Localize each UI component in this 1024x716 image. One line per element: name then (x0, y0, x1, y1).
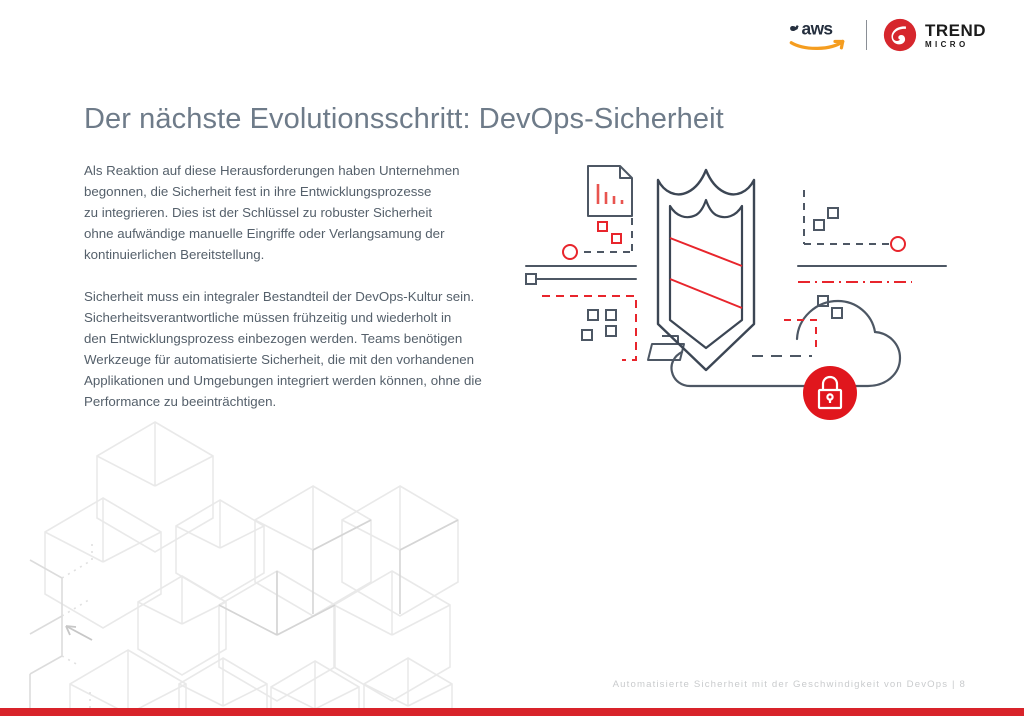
folder-icon (648, 336, 684, 360)
red-circle-node (563, 245, 577, 259)
lock-badge-icon (803, 366, 857, 420)
logo-divider (866, 20, 867, 50)
bottom-accent-bar (0, 708, 1024, 716)
paragraph-1: Als Reaktion auf diese Herausforderungen… (84, 160, 514, 265)
svg-text:aws: aws (802, 18, 833, 38)
body-copy: Als Reaktion auf diese Herausforderungen… (84, 160, 514, 412)
trend-micro-mark-icon (883, 18, 917, 52)
brand-logo-bar: aws TREND MICRO (784, 14, 986, 56)
document-chart-icon (588, 166, 632, 216)
footer-note: Automatisierte Sicherheit mit der Geschw… (613, 679, 966, 690)
trend-micro-line2: MICRO (925, 41, 986, 49)
isometric-cube-pattern-watermark (0, 418, 500, 708)
trend-micro-line1: TREND (925, 22, 986, 39)
trend-micro-wordmark: TREND MICRO (925, 22, 986, 49)
aws-logo: aws (784, 17, 850, 53)
trend-micro-logo: TREND MICRO (883, 18, 986, 52)
paragraph-2: Sicherheit muss ein integraler Bestandte… (84, 286, 514, 412)
slide-root: aws TREND MICRO Der nächste Evolutionssc… (0, 0, 1024, 716)
page-title: Der nächste Evolutionsschritt: DevOps-Si… (84, 103, 724, 136)
cloud-icon (671, 301, 900, 386)
devops-security-illustration (512, 148, 952, 438)
